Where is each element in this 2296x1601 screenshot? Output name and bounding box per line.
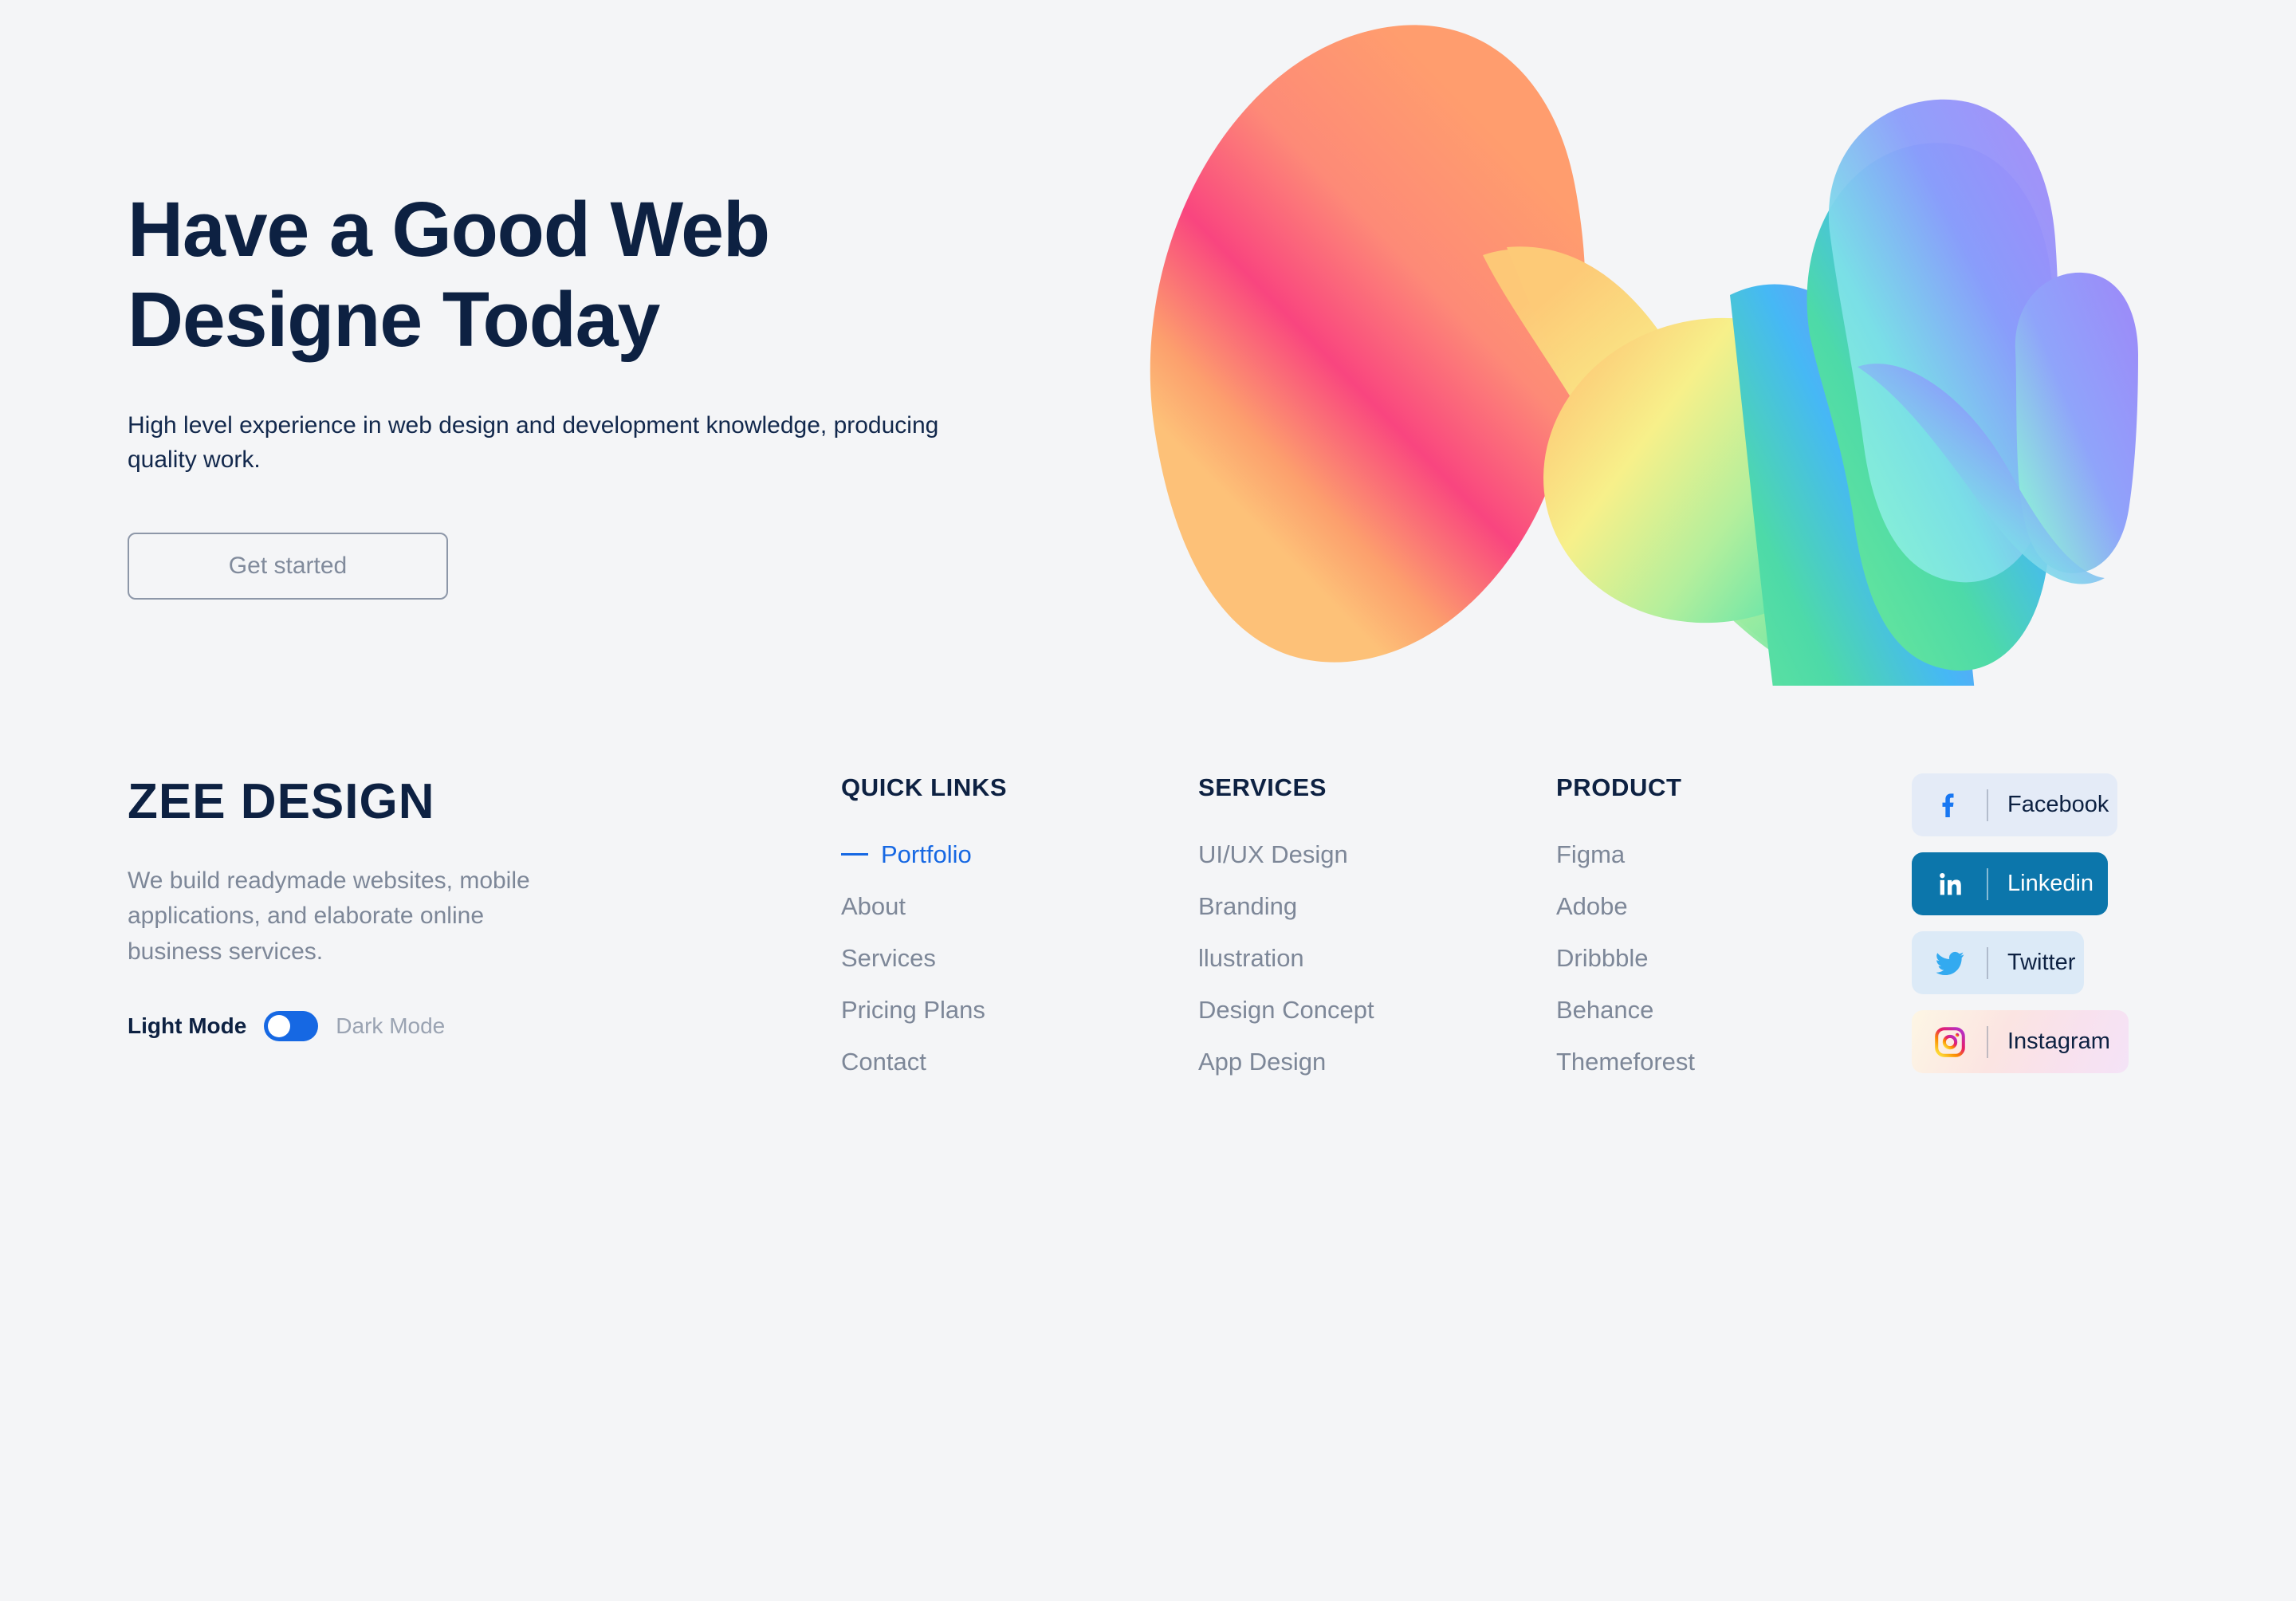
footer-link-pricing-plans[interactable]: Pricing Plans [841, 988, 985, 1032]
footer-link-label: Portfolio [881, 842, 972, 867]
list-item: Branding [1198, 884, 1533, 928]
footer-link-branding[interactable]: Branding [1198, 884, 1297, 928]
list-item: Behance [1556, 988, 1875, 1032]
footer-column-services: SERVICES UI/UX Design Branding llustrati… [1198, 773, 1533, 1092]
theme-mode-toggle[interactable] [264, 1011, 318, 1041]
list-item: Themeforest [1556, 1040, 1875, 1084]
dark-mode-label: Dark Mode [336, 1013, 445, 1039]
list-item: Dribbble [1556, 936, 1875, 980]
social-buttons-list: Facebook Linkedin [1912, 773, 2175, 1073]
list-item: UI/UX Design [1198, 832, 1533, 876]
list-item: Contact [841, 1040, 1160, 1084]
instagram-icon [1932, 1025, 1968, 1060]
active-dash-icon [841, 853, 868, 856]
link-list: Portfolio About Services Pricing Plans C… [841, 832, 1160, 1084]
footer-link-adobe[interactable]: Adobe [1556, 884, 1628, 928]
social-label: Instagram [2007, 1029, 2110, 1055]
footer-link-uiux-design[interactable]: UI/UX Design [1198, 832, 1348, 876]
list-item: Design Concept [1198, 988, 1533, 1032]
footer-column-product: PRODUCT Figma Adobe Dribbble Behance The… [1556, 773, 1875, 1092]
facebook-icon [1932, 788, 1968, 823]
twitter-icon [1932, 946, 1968, 981]
footer-column-quick-links: QUICK LINKS Portfolio About Services Pri… [841, 773, 1160, 1092]
list-item: App Design [1198, 1040, 1533, 1084]
divider [1987, 789, 1988, 821]
abstract-gradient-wave-icon [1108, 0, 2145, 686]
get-started-button[interactable]: Get started [128, 533, 448, 600]
footer-link-about[interactable]: About [841, 884, 906, 928]
footer-link-themeforest[interactable]: Themeforest [1556, 1040, 1695, 1084]
footer-columns: ZEE DESIGN We build readymade websites, … [0, 718, 2296, 1292]
light-mode-label: Light Mode [128, 1013, 246, 1039]
page-title: Have a Good Web Designe Today [128, 185, 1124, 364]
hero-subtitle: High level experience in web design and … [128, 409, 1060, 477]
footer-link-services[interactable]: Services [841, 936, 936, 980]
social-button-twitter[interactable]: Twitter [1912, 931, 2084, 994]
footer-link-dribbble[interactable]: Dribbble [1556, 936, 1648, 980]
footer-social-column: Facebook Linkedin [1912, 773, 2175, 1073]
list-item: Services [841, 936, 1160, 980]
social-label: Twitter [2007, 950, 2075, 976]
footer-link-portfolio[interactable]: Portfolio [841, 832, 972, 876]
divider [1987, 868, 1988, 900]
column-heading: SERVICES [1198, 773, 1533, 802]
list-item: llustration [1198, 936, 1533, 980]
divider [1987, 947, 1988, 979]
footer-link-behance[interactable]: Behance [1556, 988, 1653, 1032]
list-item: Portfolio [841, 832, 1160, 876]
footer-link-figma[interactable]: Figma [1556, 832, 1625, 876]
social-button-linkedin[interactable]: Linkedin [1912, 852, 2108, 915]
social-label: Linkedin [2007, 871, 2094, 897]
divider [1987, 1026, 1988, 1058]
footer-link-design-concept[interactable]: Design Concept [1198, 988, 1374, 1032]
brand-logo-text: ZEE DESIGN [128, 773, 686, 830]
social-label: Facebook [2007, 792, 2109, 818]
linkedin-icon [1932, 867, 1968, 902]
list-item: Figma [1556, 832, 1875, 876]
social-button-instagram[interactable]: Instagram [1912, 1010, 2129, 1073]
theme-mode-row: Light Mode Dark Mode [128, 1011, 686, 1041]
footer-link-contact[interactable]: Contact [841, 1040, 926, 1084]
footer-link-app-design[interactable]: App Design [1198, 1040, 1326, 1084]
footer-brand-column: ZEE DESIGN We build readymade websites, … [128, 773, 686, 1041]
list-item: Pricing Plans [841, 988, 1160, 1032]
footer: ZEE DESIGN We build readymade websites, … [0, 718, 2296, 1292]
list-item: Adobe [1556, 884, 1875, 928]
column-heading: PRODUCT [1556, 773, 1875, 802]
link-list: Figma Adobe Dribbble Behance Themeforest [1556, 832, 1875, 1084]
hero-copy: Have a Good Web Designe Today High level… [128, 185, 1124, 600]
social-button-facebook[interactable]: Facebook [1912, 773, 2117, 836]
brand-description: We build readymade websites, mobile appl… [128, 863, 606, 970]
link-list: UI/UX Design Branding llustration Design… [1198, 832, 1533, 1084]
list-item: About [841, 884, 1160, 928]
hero-section: Have a Good Web Designe Today High level… [0, 0, 2296, 718]
footer-link-illustration[interactable]: llustration [1198, 936, 1304, 980]
column-heading: QUICK LINKS [841, 773, 1160, 802]
